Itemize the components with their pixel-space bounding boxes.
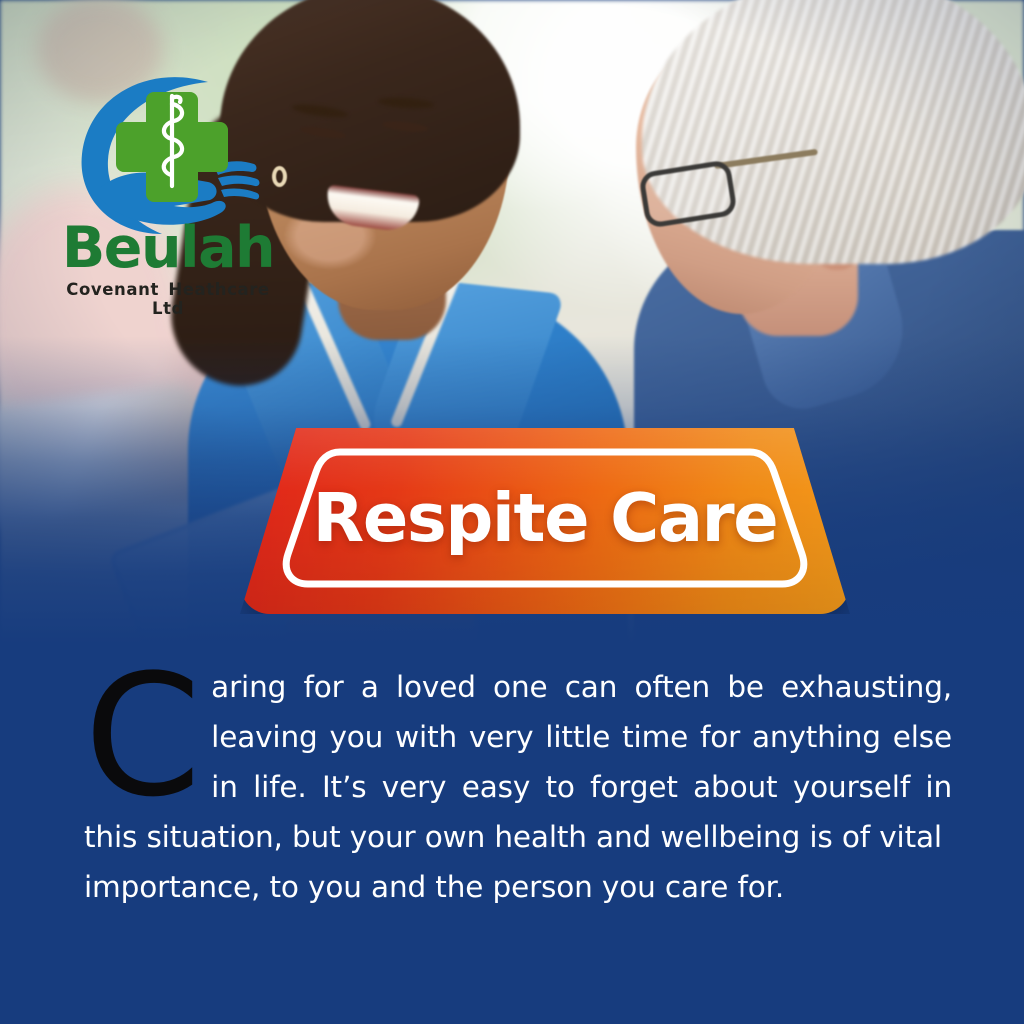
banner-title-text: Respite Care xyxy=(240,428,850,614)
brand-logo: Beulah Covenant Heathcare Ltd xyxy=(58,68,278,300)
drop-cap-letter: C xyxy=(84,664,211,800)
respite-care-poster: Beulah Covenant Heathcare Ltd Respite Ca… xyxy=(0,0,1024,1024)
body-text-tail: importance, to you and the person you ca… xyxy=(84,862,952,912)
logo-wordmark: Beulah xyxy=(58,220,278,277)
logo-mark xyxy=(58,68,278,236)
logo-tagline: Covenant Heathcare Ltd xyxy=(58,280,278,318)
body-paragraph: Caring for a loved one can often be exha… xyxy=(84,662,952,912)
body-text-lead: aring for a loved one can often be exhau… xyxy=(84,670,952,854)
title-banner: Respite Care xyxy=(240,428,850,614)
